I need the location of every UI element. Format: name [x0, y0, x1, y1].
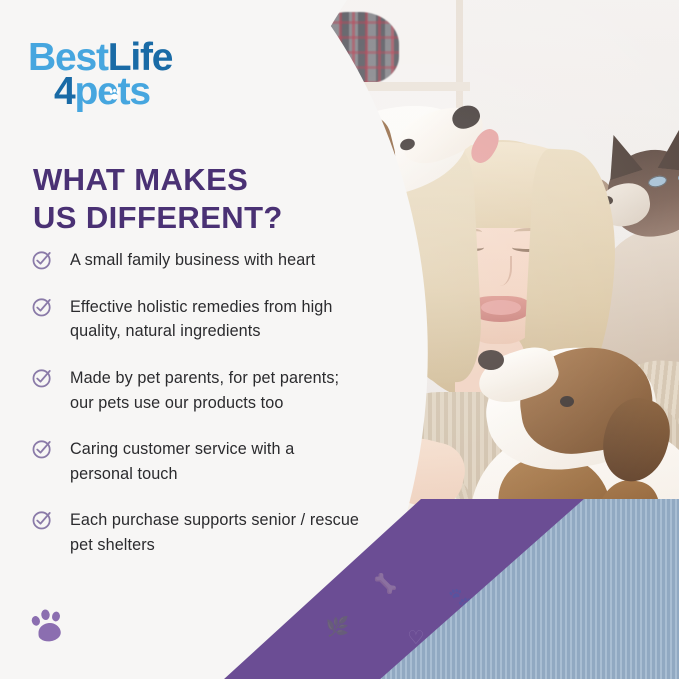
paw-print-icon: [108, 88, 121, 101]
check-circle-icon: [31, 367, 53, 389]
logo-line-2: 4pets: [54, 72, 172, 111]
page-title: WHAT MAKES US DIFFERENT?: [33, 161, 283, 237]
list-item-label: Effective holistic remedies from high qu…: [70, 295, 361, 344]
logo-four: 4: [54, 70, 75, 113]
check-circle-icon: [31, 438, 53, 460]
list-item-label: Caring customer service with a personal …: [70, 437, 361, 486]
check-circle-icon: [31, 296, 53, 318]
marketing-poster: ☯ 🦴 🌿 ♡ 🐾 🐟 🦴 🐾 ♡ BestLife 4pets: [0, 0, 679, 679]
list-item-label: Made by pet parents, for pet parents; ou…: [70, 366, 361, 415]
list-item: Effective holistic remedies from high qu…: [31, 295, 361, 344]
list-item-label: Each purchase supports senior / rescue p…: [70, 508, 361, 557]
check-circle-icon: [31, 509, 53, 531]
list-item: Made by pet parents, for pet parents; ou…: [31, 366, 361, 415]
check-circle-icon: [31, 249, 53, 271]
bone-icon: 🦴: [373, 575, 397, 594]
headline-line-1: WHAT MAKES: [33, 162, 248, 197]
dog-front-nose: [478, 350, 504, 370]
paw-print-icon: [28, 606, 70, 648]
list-item: Caring customer service with a personal …: [31, 437, 361, 486]
benefits-list: A small family business with heart Effec…: [31, 248, 361, 580]
list-item: A small family business with heart: [31, 248, 361, 273]
headline-line-2: US DIFFERENT?: [33, 200, 283, 235]
list-item: Each purchase supports senior / rescue p…: [31, 508, 361, 557]
woman-tongue: [481, 300, 521, 315]
leaf-icon: 🌿: [326, 618, 350, 637]
list-item-label: A small family business with heart: [70, 248, 315, 273]
dog-front-eye: [560, 396, 574, 407]
brand-logo[interactable]: BestLife 4pets: [28, 38, 172, 111]
